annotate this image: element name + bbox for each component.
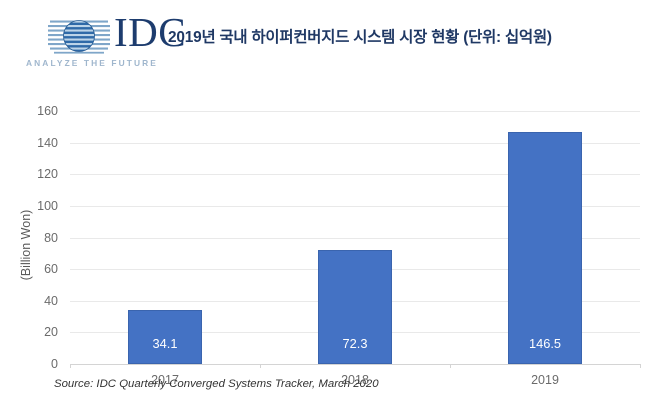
chart-page: IDC ANALYZE THE FUTURE 2019년 국내 하이퍼컨버지드 … bbox=[0, 0, 658, 416]
plot-area: 02040608010012014016034.1201772.32018146… bbox=[70, 111, 640, 364]
y-axis-tick-label: 60 bbox=[14, 263, 58, 275]
x-axis-tick bbox=[70, 364, 71, 368]
y-axis-tick-label: 80 bbox=[14, 232, 58, 244]
idc-logo: IDC ANALYZE THE FUTURE bbox=[14, 12, 166, 76]
bar-2019[interactable]: 146.5 bbox=[508, 132, 582, 364]
bar-value-label: 146.5 bbox=[509, 336, 581, 351]
page-title: 2019년 국내 하이퍼컨버지드 시스템 시장 현황 (단위: 십억원) bbox=[168, 25, 652, 47]
bar-2018[interactable]: 72.3 bbox=[318, 250, 392, 364]
idc-globe-logo-icon bbox=[48, 14, 110, 58]
source-note: Source: IDC Quarterly Converged Systems … bbox=[54, 378, 379, 390]
bar-value-label: 72.3 bbox=[319, 336, 391, 351]
y-axis-tick-label: 140 bbox=[14, 137, 58, 149]
x-axis-label-2019: 2019 bbox=[450, 373, 640, 387]
x-axis-line bbox=[70, 364, 640, 365]
x-axis-tick bbox=[640, 364, 641, 368]
x-axis-tick bbox=[450, 364, 451, 368]
gridline bbox=[70, 111, 640, 112]
y-axis-tick-label: 160 bbox=[14, 105, 58, 117]
x-axis-tick bbox=[260, 364, 261, 368]
idc-tagline: ANALYZE THE FUTURE bbox=[16, 58, 168, 68]
chart-header: IDC ANALYZE THE FUTURE 2019년 국내 하이퍼컨버지드 … bbox=[0, 0, 658, 88]
bar-chart: (Billion Won) 02040608010012014016034.12… bbox=[0, 88, 658, 378]
y-axis-tick-label: 20 bbox=[14, 326, 58, 338]
y-axis-tick-label: 120 bbox=[14, 168, 58, 180]
bar-2017[interactable]: 34.1 bbox=[128, 310, 202, 364]
bar-value-label: 34.1 bbox=[129, 336, 201, 351]
y-axis-tick-label: 40 bbox=[14, 295, 58, 307]
y-axis-tick-label: 100 bbox=[14, 200, 58, 212]
y-axis-tick-label: 0 bbox=[14, 358, 58, 370]
